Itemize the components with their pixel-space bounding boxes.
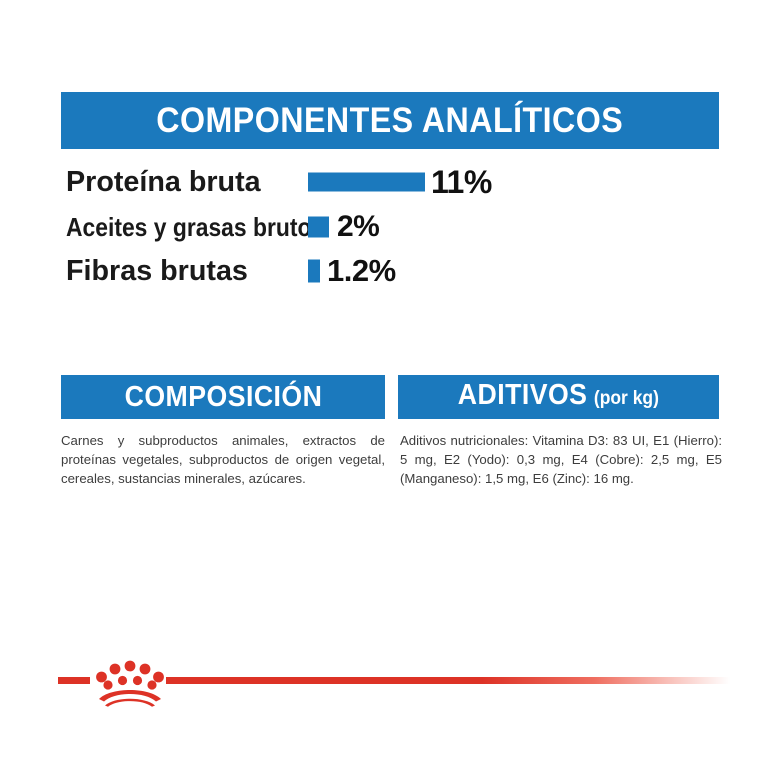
nutrient-row-fat: Aceites y grasas brutos 2% bbox=[61, 205, 581, 249]
nutrient-bar-fiber bbox=[308, 260, 320, 283]
nutrient-value-fat: 2% bbox=[337, 205, 379, 249]
analytical-components-title: COMPONENTES ANALÍTICOS bbox=[157, 103, 624, 138]
nutrient-value-protein: 11% bbox=[431, 160, 492, 204]
additives-title: ADITIVOS bbox=[458, 381, 588, 410]
analytical-components-header: COMPONENTES ANALÍTICOS bbox=[61, 92, 719, 149]
analytical-components-chart: Proteína bruta 11% Aceites y grasas brut… bbox=[61, 160, 581, 300]
nutrient-bar-protein bbox=[308, 173, 425, 192]
additives-header: ADITIVOS (por kg) bbox=[398, 375, 719, 419]
footer bbox=[0, 655, 780, 715]
nutrient-bar-fat bbox=[308, 217, 329, 238]
composition-body: Carnes y subproductos animales, extracto… bbox=[61, 431, 385, 488]
nutrition-panel: COMPONENTES ANALÍTICOS Proteína bruta 11… bbox=[0, 0, 780, 780]
additives-title-note: (por kg) bbox=[594, 384, 659, 413]
nutrient-label-fiber: Fibras brutas bbox=[66, 249, 304, 293]
nutrient-label-fat: Aceites y grasas brutos bbox=[66, 205, 277, 249]
footer-rule-right bbox=[166, 677, 730, 684]
nutrient-row-fiber: Fibras brutas 1.2% bbox=[61, 249, 581, 293]
nutrient-value-fiber: 1.2% bbox=[327, 249, 396, 293]
nutrient-label-protein: Proteína bruta bbox=[66, 160, 304, 204]
composition-header: COMPOSICIÓN bbox=[61, 375, 385, 419]
composition-title: COMPOSICIÓN bbox=[124, 383, 322, 412]
additives-body: Aditivos nutricionales: Vitamina D3: 83 … bbox=[400, 431, 722, 488]
additives-title-wrap: ADITIVOS (por kg) bbox=[458, 381, 659, 413]
nutrient-row-protein: Proteína bruta 11% bbox=[61, 160, 581, 204]
footer-rule-left bbox=[58, 677, 90, 684]
royal-canin-crown-logo bbox=[95, 655, 165, 707]
